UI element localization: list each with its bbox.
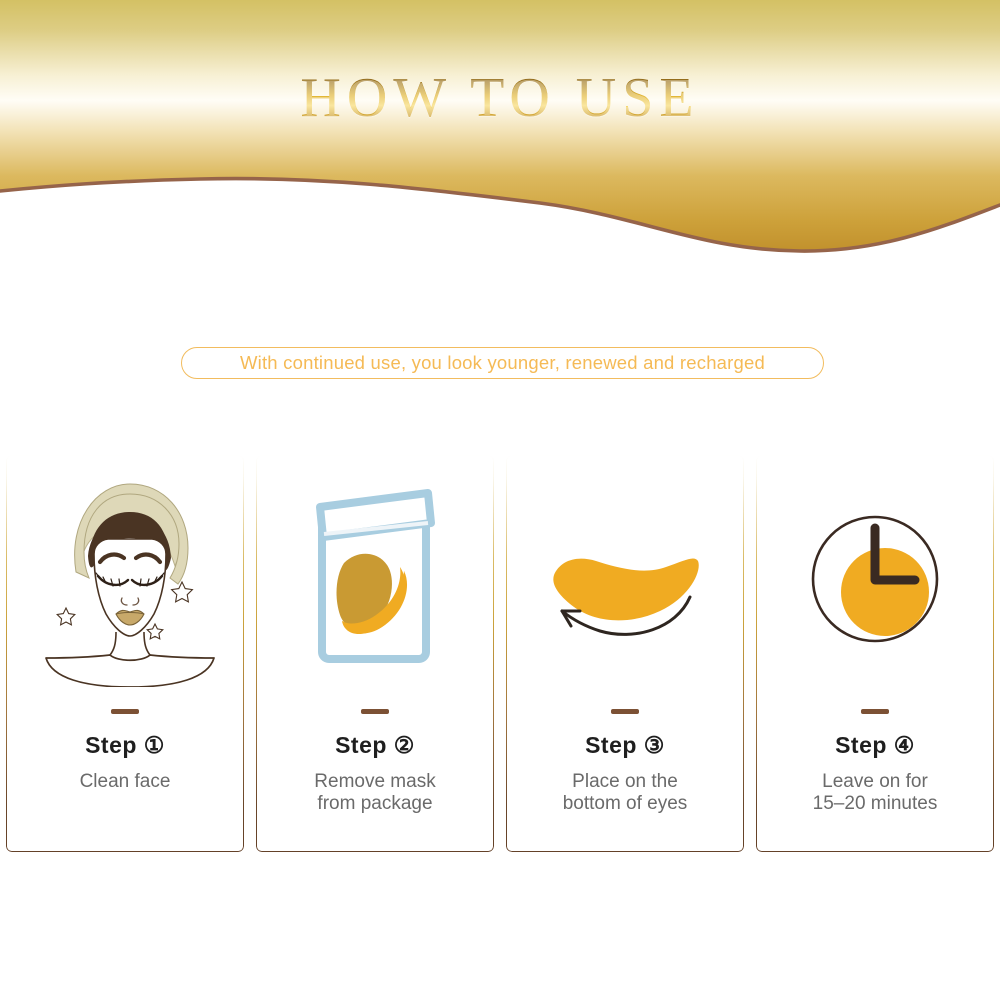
eye-patch-arrow-icon [530,479,720,679]
tagline-text: With continued use, you look younger, re… [240,354,765,373]
step-card-1: Step ① Clean face [0,455,250,855]
step-art-1 [6,463,244,695]
page-title: HOW TO USE [0,66,1000,130]
step-card-3: Step ③ Place on the bottom of eyes [500,455,750,855]
step-divider-2 [361,709,389,714]
header-wave-graphic [0,0,1000,270]
step-description-3: Place on the bottom of eyes [563,771,688,815]
clock-dial-fill [841,548,929,636]
mask-package-icon [300,479,450,679]
clock-icon [785,484,965,674]
step-art-4 [756,463,994,695]
step-divider-3 [611,709,639,714]
step-description-4: Leave on for 15–20 minutes [813,771,938,815]
woman-face-icon [30,472,220,687]
tagline-banner: With continued use, you look younger, re… [181,347,824,379]
step-description-1: Clean face [80,771,171,793]
step-divider-4 [861,709,889,714]
step-label-2: Step ② [335,732,415,759]
step-art-3 [506,463,744,695]
step-label-1: Step ① [85,732,165,759]
step-label-3: Step ③ [585,732,665,759]
step-label-4: Step ④ [835,732,915,759]
step-divider-1 [111,709,139,714]
step-description-2: Remove mask from package [314,771,435,815]
step-card-2: Step ② Remove mask from package [250,455,500,855]
step-art-2 [256,463,494,695]
step-card-4: Step ④ Leave on for 15–20 minutes [750,455,1000,855]
header-banner: HOW TO USE [0,0,1000,270]
steps-row: Step ① Clean face [0,455,1000,855]
